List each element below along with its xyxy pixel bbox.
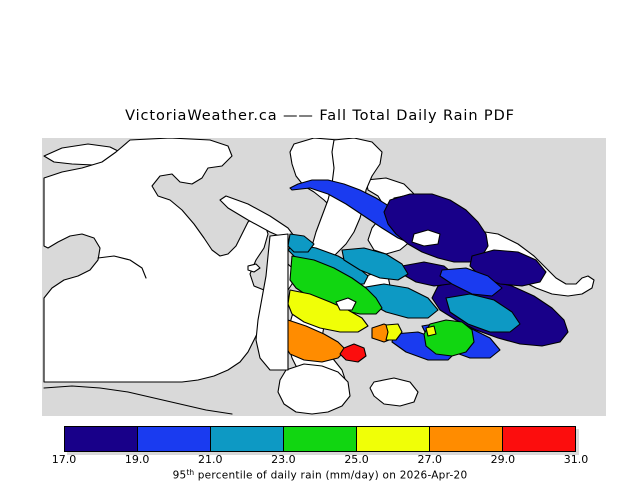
colorbar-segment-1[interactable] [137, 427, 210, 451]
colorbar-caption: 95th percentile of daily rain (mm/day) o… [0, 468, 640, 481]
colorbar: 17.019.021.023.025.027.029.031.0 95th pe… [0, 424, 640, 480]
map-panel[interactable] [42, 138, 606, 416]
colorbar-tick-4: 25.0 [344, 453, 369, 466]
colorbar-segment-6[interactable] [502, 427, 575, 451]
colorbar-tick-5: 27.0 [417, 453, 442, 466]
colorbar-tick-2: 21.0 [198, 453, 223, 466]
colorbar-tick-7: 31.0 [564, 453, 589, 466]
colorbar-segment-2[interactable] [210, 427, 283, 451]
colorbar-tick-labels: 17.019.021.023.025.027.029.031.0 [0, 453, 640, 467]
colorbar-tick-3: 23.0 [271, 453, 296, 466]
map-canvas[interactable] [42, 138, 606, 416]
colorbar-tick-1: 19.0 [125, 453, 150, 466]
colorbar-segment-3[interactable] [283, 427, 356, 451]
caption-superscript: th [186, 468, 194, 477]
colorbar-segment-5[interactable] [429, 427, 502, 451]
colorbar-strip[interactable] [64, 426, 576, 452]
colorbar-tick-6: 29.0 [491, 453, 516, 466]
colorbar-segment-0[interactable] [65, 427, 137, 451]
weather-map-page: VictoriaWeather.ca —— Fall Total Daily R… [0, 0, 640, 480]
colorbar-tick-0: 17.0 [52, 453, 77, 466]
region-island-green-notch[interactable] [426, 326, 436, 336]
page-title: VictoriaWeather.ca —— Fall Total Daily R… [0, 108, 640, 124]
colorbar-segment-4[interactable] [356, 427, 429, 451]
region-island-green[interactable] [424, 320, 474, 356]
